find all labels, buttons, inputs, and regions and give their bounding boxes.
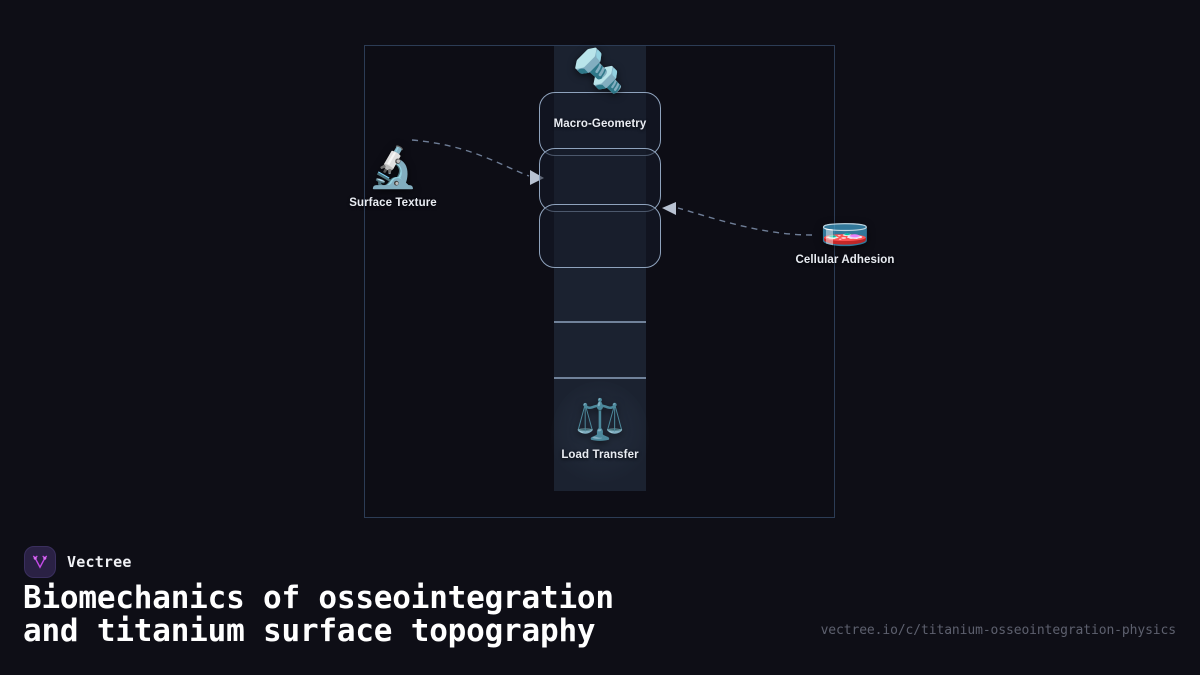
column-divider-2: [554, 377, 646, 379]
footer-url: vectree.io/c/titanium-osseointegration-p…: [821, 623, 1176, 638]
annotation-load-transfer[interactable]: ⚖️ Load Transfer: [520, 400, 680, 461]
annotation-surface-texture[interactable]: 🔬 Surface Texture: [313, 148, 473, 209]
vectree-logo-icon: [24, 546, 56, 578]
annotation-cellular-adhesion[interactable]: 🧫 Cellular Adhesion: [765, 205, 925, 266]
footer: Vectree Biomechanics of osseointegration…: [0, 530, 1200, 675]
petri-dish-icon: 🧫: [820, 205, 870, 245]
nut-and-bolt-icon: 🔩: [572, 50, 624, 92]
stack-node-middle[interactable]: [539, 148, 661, 212]
annotation-label: Surface Texture: [349, 197, 437, 209]
brand-name: Vectree: [67, 553, 132, 571]
stack-node-label: Macro-Geometry: [554, 118, 647, 130]
column-divider-1: [554, 321, 646, 323]
annotation-label: Load Transfer: [561, 449, 638, 461]
balance-scale-icon: ⚖️: [575, 400, 625, 440]
microscope-icon: 🔬: [368, 148, 418, 188]
brand-row: Vectree: [24, 546, 132, 578]
vectree-glyph: [30, 552, 50, 572]
page-title: Biomechanics of osseointegration and tit…: [23, 582, 614, 648]
annotation-label: Cellular Adhesion: [795, 254, 894, 266]
stack-node-macro-geometry[interactable]: Macro-Geometry: [539, 92, 661, 156]
stack-node-lower[interactable]: [539, 204, 661, 268]
diagram-canvas: Macro-Geometry 🔩 🔬 Surface Texture 🧫 Cel…: [0, 0, 1200, 530]
